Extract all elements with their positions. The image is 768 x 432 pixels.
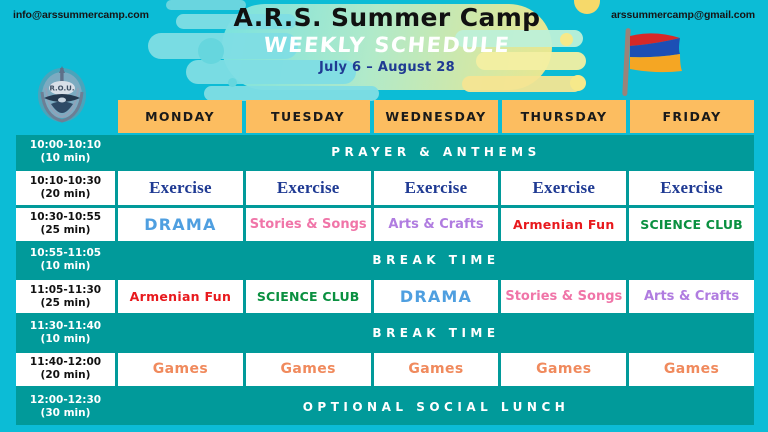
time-duration: (10 min) [41,260,91,273]
activity-label-armenian: Armenian Fun [130,289,232,304]
activity-label-arts: Arts & Crafts [388,217,483,232]
day-header-tuesday: TUESDAY [246,100,370,133]
schedule-row: 10:00-10:10(10 min)PRAYER & ANTHEMS [16,135,754,171]
activity-cell: Exercise [501,171,629,204]
activity-label-exercise: Exercise [149,180,212,195]
ars-rou-logo-icon: R.O.U. [34,66,90,124]
time-slot-cell: 12:00-12:30(30 min) [16,389,118,425]
activity-cell: DRAMA [118,208,246,241]
time-range: 10:10-10:30 [30,175,101,188]
page-title-block: A.R.S. Summer Camp WEEKLY SCHEDULE July … [226,4,548,77]
activity-label-exercise: Exercise [532,180,595,195]
activity-cell: Armenian Fun [501,208,629,241]
schedule-row: 11:05-11:30(25 min)Armenian FunSCIENCE C… [16,280,754,316]
activity-label-games: Games [153,362,208,377]
time-duration: (10 min) [41,333,91,346]
activity-cell: SCIENCE CLUB [246,280,374,313]
full-width-activity-cell: BREAK TIME [118,244,754,277]
time-range: 12:00-12:30 [30,394,101,407]
decor-dot-large [198,38,224,64]
decor-dot-yellow-large [570,75,586,91]
time-slot-cell: 10:30-10:55(25 min) [16,208,118,241]
time-range: 10:30-10:55 [30,211,101,224]
activity-cell: Exercise [374,171,502,204]
activity-label-exercise: Exercise [660,180,723,195]
day-header-wednesday: WEDNESDAY [374,100,498,133]
activity-cell: SCIENCE CLUB [629,208,754,241]
activity-cell: Exercise [629,171,754,204]
schedule-row: 10:10-10:30(20 min)ExerciseExerciseExerc… [16,171,754,207]
activity-label-drama: DRAMA [400,289,472,304]
activity-label-games: Games [536,362,591,377]
activity-cell: Exercise [118,171,246,204]
activity-label-arts: Arts & Crafts [644,289,739,304]
schedule-row: 10:30-10:55(25 min)DRAMAStories & SongsA… [16,208,754,244]
activity-label-games: Games [281,362,336,377]
activity-cells: Armenian FunSCIENCE CLUBDRAMAStories & S… [118,280,754,313]
time-range: 11:05-11:30 [30,284,101,297]
activity-cell: DRAMA [374,280,502,313]
time-slot-cell: 11:30-11:40(10 min) [16,316,118,349]
decor-half-circle-icon [574,0,600,14]
time-range: 10:55-11:05 [30,247,101,260]
day-header-thursday: THURSDAY [502,100,626,133]
time-duration: (20 min) [41,188,91,201]
logo-text: R.O.U. [50,85,75,93]
schedule-row: 11:30-11:40(10 min)BREAK TIME [16,316,754,352]
time-slot-cell: 11:40-12:00(20 min) [16,353,118,386]
contact-email-left: info@arssummercamp.com [13,9,149,21]
activity-cell: Games [118,353,246,386]
time-slot-cell: 10:00-10:10(10 min) [16,135,118,168]
activity-label-science: SCIENCE CLUB [640,217,743,232]
activity-label-stories: Stories & Songs [505,289,622,304]
full-width-activity-cell: PRAYER & ANTHEMS [118,135,754,168]
full-width-activity-cell: OPTIONAL SOCIAL LUNCH [118,389,754,425]
activity-label-stories: Stories & Songs [250,217,367,232]
time-slot-cell: 10:55-11:05(10 min) [16,244,118,277]
time-slot-cell: 10:10-10:30(20 min) [16,171,118,204]
activity-cell: Armenian Fun [118,280,246,313]
activity-cell: Games [246,353,374,386]
time-range: 10:00-10:10 [30,139,101,152]
time-duration: (10 min) [41,152,91,165]
time-slot-cell: 11:05-11:30(25 min) [16,280,118,313]
activity-cell: Games [629,353,754,386]
page-subtitle: WEEKLY SCHEDULE [225,32,549,58]
day-header-monday: MONDAY [118,100,242,133]
activity-label-games: Games [664,362,719,377]
activity-label-drama: DRAMA [144,217,216,232]
decor-dot-small [228,78,237,87]
activity-cells: DRAMAStories & SongsArts & CraftsArmenia… [118,208,754,241]
activity-cell: Games [374,353,502,386]
time-duration: (20 min) [41,369,91,382]
decor-dot-yellow-small [560,33,573,46]
activity-label-exercise: Exercise [405,180,468,195]
contact-email-right: arssummercamp@gmail.com [611,9,755,21]
time-range: 11:30-11:40 [30,320,101,333]
activity-cells: GamesGamesGamesGamesGames [118,353,754,386]
activity-cell: Games [501,353,629,386]
schedule-grid: 10:00-10:10(10 min)PRAYER & ANTHEMS10:10… [16,135,754,425]
activity-label-games: Games [408,362,463,377]
activity-label-science: SCIENCE CLUB [257,289,360,304]
decor-pill-d [204,86,379,101]
activity-label-exercise: Exercise [277,180,340,195]
activity-cells: ExerciseExerciseExerciseExerciseExercise [118,171,754,204]
day-header-row: MONDAYTUESDAYWEDNESDAYTHURSDAYFRIDAY [118,100,754,133]
activity-cell: Stories & Songs [246,208,374,241]
armenian-flag-icon [618,24,700,96]
time-duration: (25 min) [41,297,91,310]
page-date-range: July 6 – August 28 [226,59,548,77]
time-range: 11:40-12:00 [30,356,101,369]
activity-cell: Exercise [246,171,374,204]
activity-cell: Arts & Crafts [374,208,502,241]
full-width-activity-cell: BREAK TIME [118,316,754,349]
time-duration: (25 min) [41,224,91,237]
day-header-friday: FRIDAY [630,100,754,133]
schedule-row: 10:55-11:05(10 min)BREAK TIME [16,244,754,280]
page-title: A.R.S. Summer Camp [226,4,548,32]
activity-cell: Stories & Songs [501,280,629,313]
schedule-panel: 10:00-10:10(10 min)PRAYER & ANTHEMS10:10… [16,135,754,425]
time-duration: (30 min) [41,407,91,420]
schedule-row: 12:00-12:30(30 min)OPTIONAL SOCIAL LUNCH [16,389,754,425]
activity-label-armenian: Armenian Fun [513,217,615,232]
activity-cell: Arts & Crafts [629,280,754,313]
decor-pill-g [462,76,582,92]
schedule-row: 11:40-12:00(20 min)GamesGamesGamesGamesG… [16,353,754,389]
